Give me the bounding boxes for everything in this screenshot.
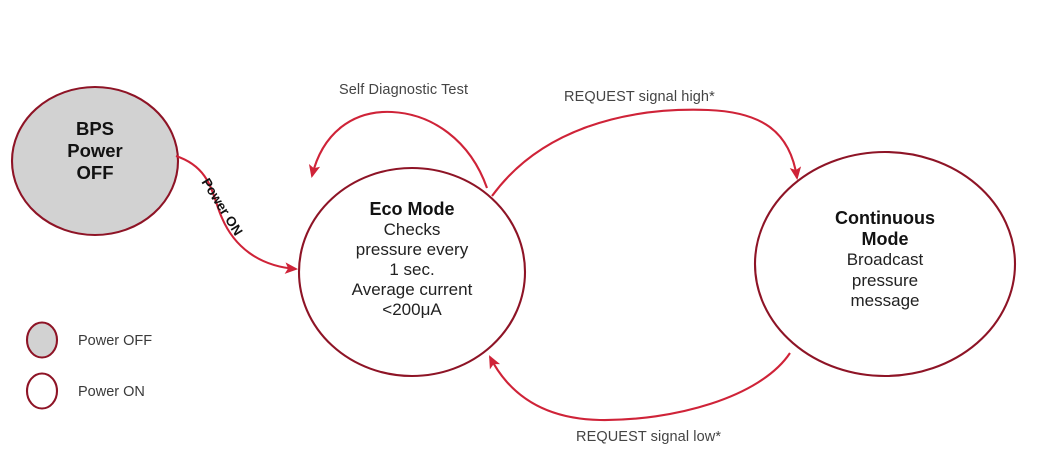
diagram-canvas — [0, 0, 1054, 454]
edge-request-signal-low — [490, 353, 790, 420]
edge-request-signal-high — [492, 110, 797, 196]
edge-label-request-signal-low: REQUEST signal low* — [576, 429, 721, 445]
edge-label-self-diagnostic-test: Self Diagnostic Test — [339, 82, 468, 98]
legend-swatch-power-on — [27, 374, 57, 409]
legend-swatch-power-off — [27, 323, 57, 358]
node-bps-power-off[interactable] — [12, 87, 178, 235]
state-diagram: BPS Power OFF Eco Mode Checks pressure e… — [0, 0, 1054, 454]
edge-power-on — [176, 156, 296, 269]
edge-label-request-signal-high: REQUEST signal high* — [564, 89, 715, 105]
node-continuous-mode[interactable] — [755, 152, 1015, 376]
node-eco-mode[interactable] — [299, 168, 525, 376]
legend-item-power-off-label: Power OFF — [78, 333, 152, 349]
legend-item-power-on-label: Power ON — [78, 384, 145, 400]
